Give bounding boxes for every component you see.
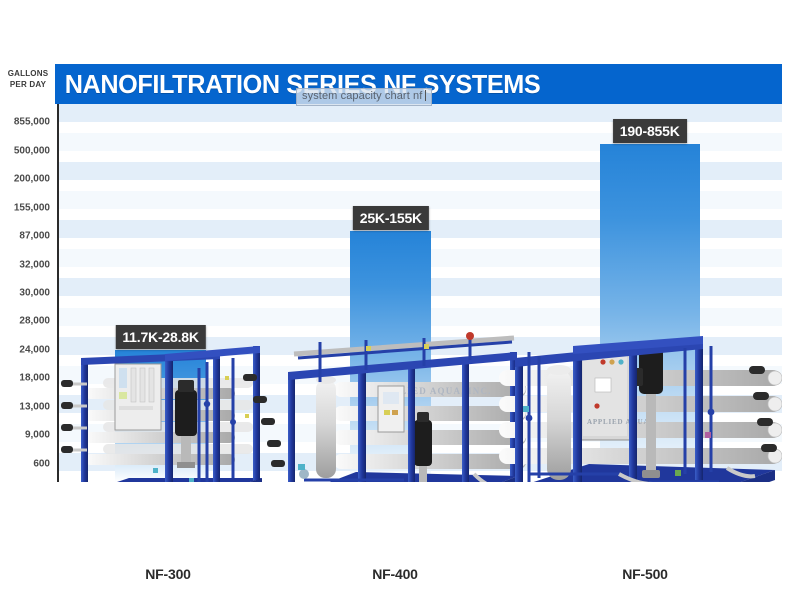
y-axis-tick: 28,000 [0,316,50,327]
y-axis-title-line2: PER DAY [2,79,54,90]
plot-area: 11.7K-28.8K 25K-155K 190-855K [59,104,782,482]
y-axis-tick: 855,000 [0,117,50,128]
y-axis-tick: 200,000 [0,174,50,185]
equipment-image-nf-400: APPLIED AQUA, INC. [274,324,534,482]
equipment-image-nf-300 [59,318,307,482]
y-axis-tick: 30,000 [0,288,50,299]
tooltip-text: system capacity chart nf [302,90,422,102]
y-axis-tick: 9,000 [0,430,50,441]
y-axis-tick: 13,000 [0,401,50,412]
image-alt-tooltip: system capacity chart nf [296,88,432,106]
y-axis-tick: 600 [0,458,50,469]
bar-value-label: 25K-155K [353,206,429,230]
bar-value-label: 190-855K [613,119,687,143]
y-axis-tick: 18,000 [0,373,50,384]
y-axis-tick: 24,000 [0,344,50,355]
category-label-nf-400: NF-400 [372,566,417,582]
y-axis-title: GALLONS PER DAY [2,68,54,90]
svg-text:APPLIED AQUA: APPLIED AQUA [587,418,649,426]
y-axis-tick: 32,000 [0,259,50,270]
category-label-nf-500: NF-500 [622,566,667,582]
y-axis-tick: 87,000 [0,231,50,242]
y-axis-tick: 155,000 [0,202,50,213]
y-axis-tick: 500,000 [0,145,50,156]
category-label-nf-300: NF-300 [145,566,190,582]
y-axis-tick-list: 855,000500,000200,000155,00087,00032,000… [0,108,56,478]
tooltip-caret [425,90,426,101]
equipment-image-nf-500: APPLIED AQUA [499,322,782,482]
y-axis-title-line1: GALLONS [2,68,54,79]
chart-canvas: GALLONS PER DAY 855,000500,000200,000155… [0,0,800,600]
